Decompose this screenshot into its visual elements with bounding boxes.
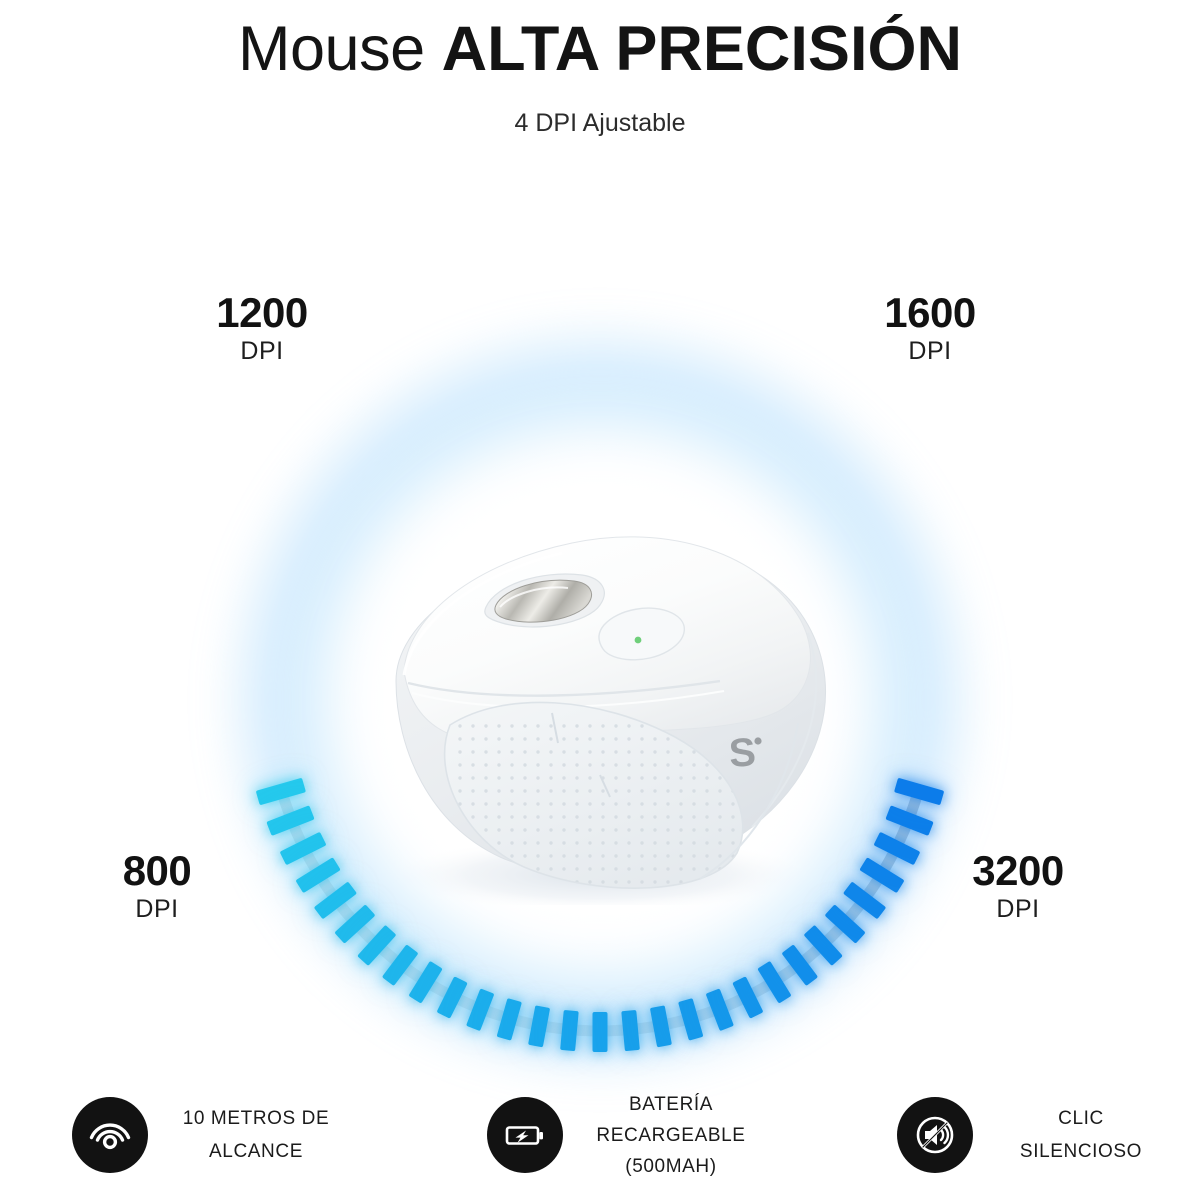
dial-tick <box>678 998 703 1041</box>
dial-tick <box>650 1005 672 1047</box>
dial-tick <box>528 1005 550 1047</box>
dial-tick <box>873 832 920 866</box>
feature-range-label: 10 METROS DE ALCANCE <box>166 1102 346 1168</box>
product-image-mouse: S <box>300 475 880 905</box>
svg-text:S: S <box>728 730 758 776</box>
dpi-label-1600: 1600 DPI <box>835 290 1025 366</box>
feature-battery-line-3: (500MAH) <box>581 1151 761 1182</box>
page-subtitle: 4 DPI Ajustable <box>0 86 1200 138</box>
speaker-mute-icon <box>897 1097 973 1173</box>
dpi-value: 3200 <box>918 848 1118 894</box>
feature-silent-line-2: SILENCIOSO <box>991 1135 1171 1168</box>
dpi-value: 800 <box>62 848 252 894</box>
dial-tick <box>885 805 934 836</box>
dial-tick <box>437 976 468 1019</box>
feature-range-line-1: 10 METROS DE <box>166 1102 346 1135</box>
mouse-illustration: S <box>300 475 880 905</box>
feature-battery-line-1: BATERÍA <box>581 1089 761 1120</box>
dpi-label-1200: 1200 DPI <box>167 290 357 366</box>
feature-row: 10 METROS DE ALCANCE BATERÍA RECARGEABLE… <box>0 1070 1200 1200</box>
dial-tick <box>357 925 396 966</box>
dial-tick <box>497 998 522 1041</box>
dial-tick <box>256 778 306 806</box>
header: Mouse ALTA PRECISIÓN 4 DPI Ajustable <box>0 0 1200 160</box>
feature-silent-line-1: CLIC <box>991 1102 1171 1135</box>
page-title-plain: Mouse <box>238 14 442 84</box>
feature-range: 10 METROS DE ALCANCE <box>72 1070 346 1200</box>
dpi-unit: DPI <box>62 894 252 924</box>
dial-tick <box>781 944 818 986</box>
dial-tick <box>757 961 791 1003</box>
dpi-unit: DPI <box>918 894 1118 924</box>
dial-tick <box>560 1010 579 1051</box>
page-title: Mouse ALTA PRECISIÓN <box>0 0 1200 86</box>
dial-tick <box>408 961 442 1003</box>
dial-tick <box>382 944 419 986</box>
dial-tick <box>894 778 944 806</box>
dpi-label-3200: 3200 DPI <box>918 848 1118 924</box>
feature-battery-line-2: RECARGEABLE <box>581 1120 761 1151</box>
feature-silent-click-label: CLIC SILENCIOSO <box>991 1102 1171 1168</box>
dpi-label-800: 800 DPI <box>62 848 252 924</box>
feature-battery: BATERÍA RECARGEABLE (500MAH) <box>487 1070 761 1200</box>
dial-tick <box>706 988 734 1031</box>
battery-charging-icon <box>487 1097 563 1173</box>
dial-tick <box>334 904 375 943</box>
feature-silent-click: CLIC SILENCIOSO <box>897 1070 1171 1200</box>
dpi-dial-stage: 1200 DPI 1600 DPI 800 DPI 3200 DPI <box>0 175 1200 1055</box>
dial-tick <box>593 1012 608 1052</box>
wireless-signal-icon <box>72 1097 148 1173</box>
dial-tick <box>824 904 865 943</box>
dpi-unit: DPI <box>835 336 1025 366</box>
dpi-value: 1600 <box>835 290 1025 336</box>
dpi-value: 1200 <box>167 290 357 336</box>
mouse-led-indicator <box>635 637 642 644</box>
feature-range-line-2: ALCANCE <box>166 1135 346 1168</box>
dial-tick <box>732 976 763 1019</box>
dial-tick <box>621 1010 640 1051</box>
dial-tick <box>804 925 843 966</box>
page-title-emphasis: ALTA PRECISIÓN <box>442 14 962 84</box>
dpi-unit: DPI <box>167 336 357 366</box>
feature-battery-label: BATERÍA RECARGEABLE (500MAH) <box>581 1089 761 1182</box>
dial-tick <box>466 988 494 1031</box>
